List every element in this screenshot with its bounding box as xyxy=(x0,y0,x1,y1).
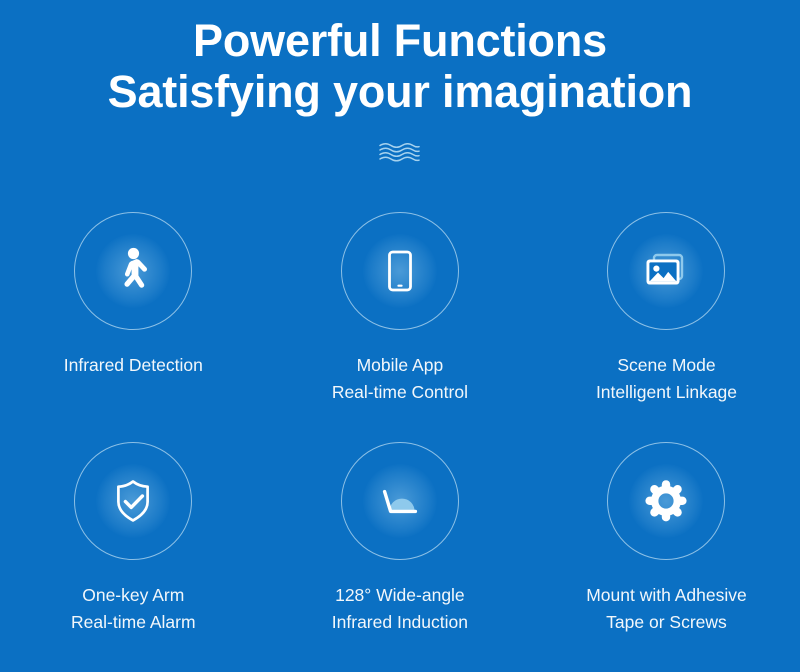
feature-icon-circle xyxy=(341,212,459,330)
wave-divider-icon xyxy=(377,141,423,163)
feature-caption-line-1: One-key Arm xyxy=(71,582,195,609)
feature-highlight-page: Powerful Functions Satisfying your imagi… xyxy=(0,0,800,664)
page-header: Powerful Functions Satisfying your imagi… xyxy=(0,16,800,118)
feature-item-one-key-arm[interactable]: One-key Arm Real-time Alarm xyxy=(0,442,267,672)
feature-caption-line-1: Mount with Adhesive xyxy=(586,582,747,609)
feature-caption: Mount with Adhesive Tape or Screws xyxy=(586,582,747,635)
feature-caption: One-key Arm Real-time Alarm xyxy=(71,582,195,635)
feature-caption: 128° Wide-angle Infrared Induction xyxy=(332,582,468,635)
feature-caption-line-2: Infrared Induction xyxy=(332,609,468,636)
feature-caption: Scene Mode Intelligent Linkage xyxy=(596,352,737,405)
feature-grid: Infrared Detection Mobile App Real-time xyxy=(0,212,800,672)
feature-caption: Infrared Detection xyxy=(64,352,203,379)
feature-caption: Mobile App Real-time Control xyxy=(332,352,468,405)
feature-item-mounting[interactable]: Mount with Adhesive Tape or Screws xyxy=(533,442,800,672)
feature-item-mobile-app[interactable]: Mobile App Real-time Control xyxy=(267,212,534,442)
feature-item-wide-angle[interactable]: 128° Wide-angle Infrared Induction xyxy=(267,442,534,672)
page-title-line-1: Powerful Functions xyxy=(0,16,800,67)
feature-row-bottom: One-key Arm Real-time Alarm 128° Wide-an… xyxy=(0,442,800,672)
feature-item-scene-mode[interactable]: Scene Mode Intelligent Linkage xyxy=(533,212,800,442)
wave-divider xyxy=(0,141,800,163)
feature-icon-circle xyxy=(74,442,192,560)
walking-person-icon xyxy=(105,243,161,299)
wide-angle-icon xyxy=(371,472,429,530)
feature-caption-line-2: Real-time Alarm xyxy=(71,609,195,636)
gear-icon xyxy=(638,473,694,529)
shield-check-icon xyxy=(105,473,161,529)
feature-caption-line-1: 128° Wide-angle xyxy=(332,582,468,609)
feature-icon-circle xyxy=(607,442,725,560)
feature-caption-line-1: Mobile App xyxy=(332,352,468,379)
feature-icon-circle xyxy=(74,212,192,330)
feature-caption-line-2: Tape or Screws xyxy=(586,609,747,636)
feature-caption-line-2: Real-time Control xyxy=(332,379,468,406)
feature-row-top: Infrared Detection Mobile App Real-time xyxy=(0,212,800,442)
smartphone-icon xyxy=(372,243,428,299)
feature-icon-circle xyxy=(341,442,459,560)
feature-caption-line-1: Infrared Detection xyxy=(64,352,203,379)
picture-stack-icon xyxy=(637,242,695,300)
feature-caption-line-1: Scene Mode xyxy=(596,352,737,379)
page-title-line-2: Satisfying your imagination xyxy=(0,67,800,118)
feature-item-infrared-detection[interactable]: Infrared Detection xyxy=(0,212,267,442)
feature-caption-line-2: Intelligent Linkage xyxy=(596,379,737,406)
feature-icon-circle xyxy=(607,212,725,330)
